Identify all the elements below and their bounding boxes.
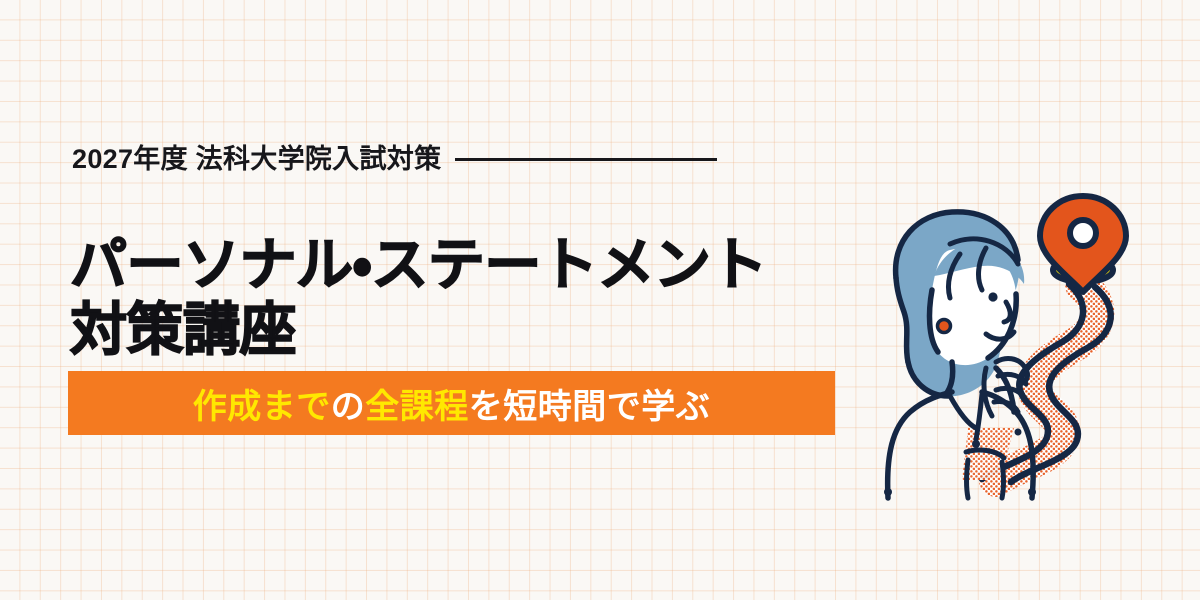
tagline-segment-2: の — [331, 379, 366, 428]
tagline-segment-4: を短時間で学ぶ — [469, 379, 711, 428]
eyebrow: 2027年度 法科大学院入試対策 — [72, 146, 717, 173]
tagline-segment-3: 全課程 — [365, 379, 469, 428]
horizontal-rule — [455, 158, 717, 161]
eyebrow-text: 2027年度 法科大学院入試対策 — [72, 146, 441, 173]
tagline-text: 作成までの全課程を短時間で学ぶ — [68, 371, 835, 435]
artwork — [800, 180, 1200, 510]
promotional-banner: 2027年度 法科大学院入試対策 パーソナル・ステートメント 対策講座 作成まで… — [0, 0, 1200, 600]
tagline-segment-1: 作成まで — [193, 379, 331, 428]
headline-line-1: パーソナル・ステートメント — [70, 233, 767, 297]
page-title: パーソナル・ステートメント 対策講座 — [70, 233, 767, 363]
headline-line-2: 対策講座 — [70, 298, 767, 363]
map-pin-icon — [1040, 196, 1126, 292]
